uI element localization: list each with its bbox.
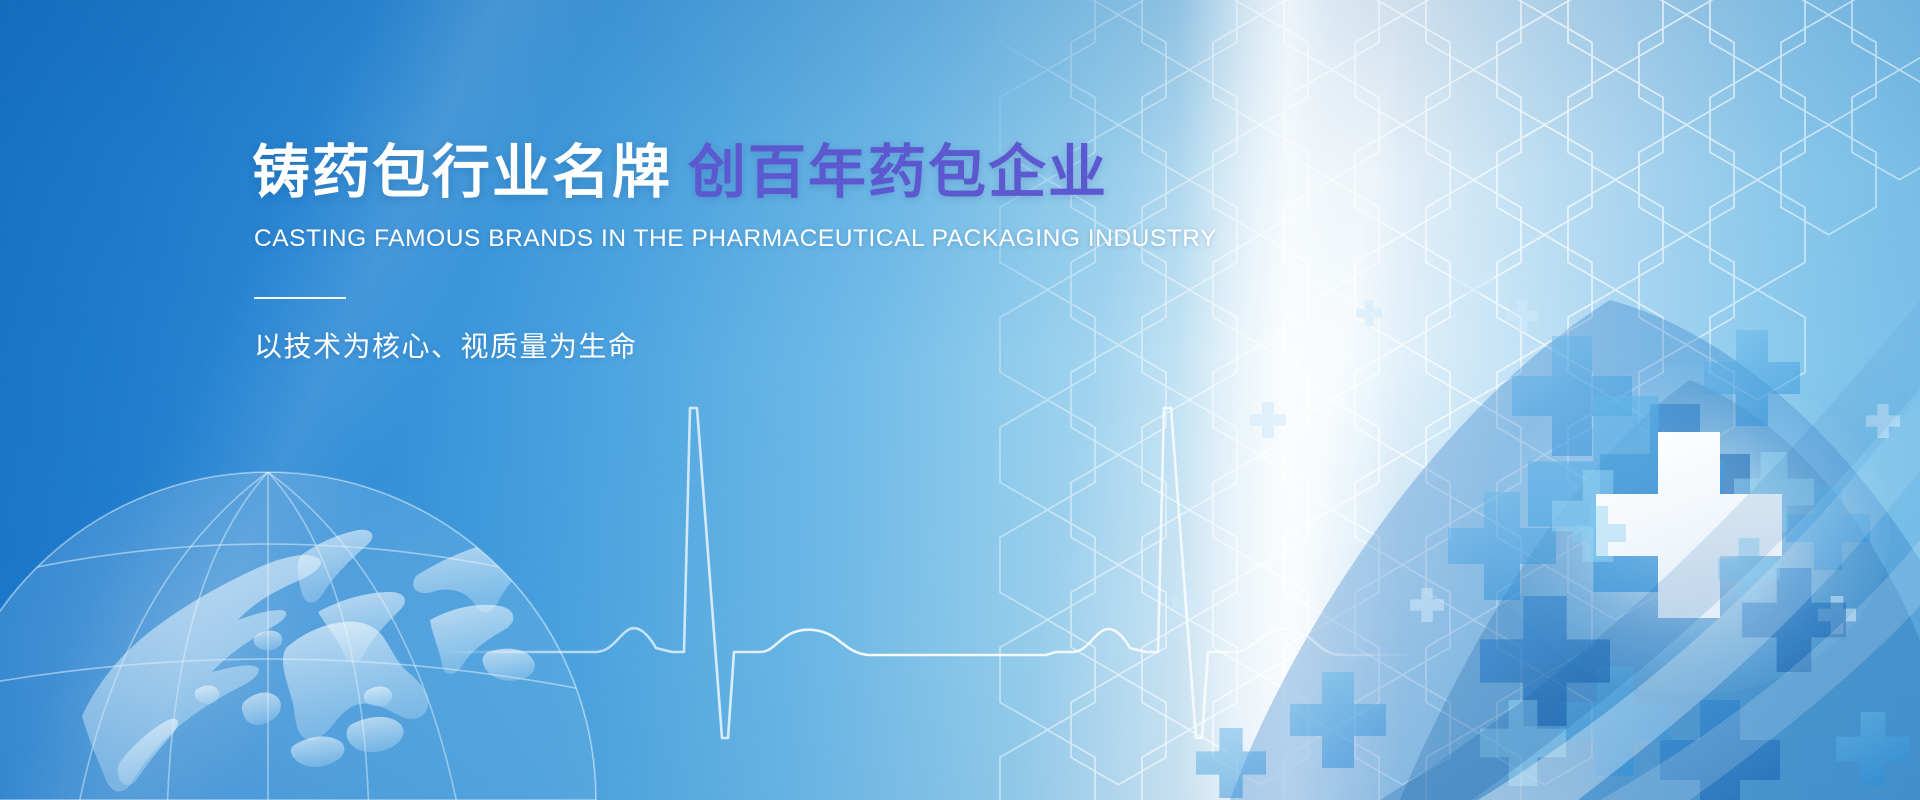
hero-banner: 铸药包行业名牌创百年药包企业 CASTING FAMOUS BRANDS IN … (0, 0, 1920, 800)
background-texture-overlay (0, 0, 1920, 800)
